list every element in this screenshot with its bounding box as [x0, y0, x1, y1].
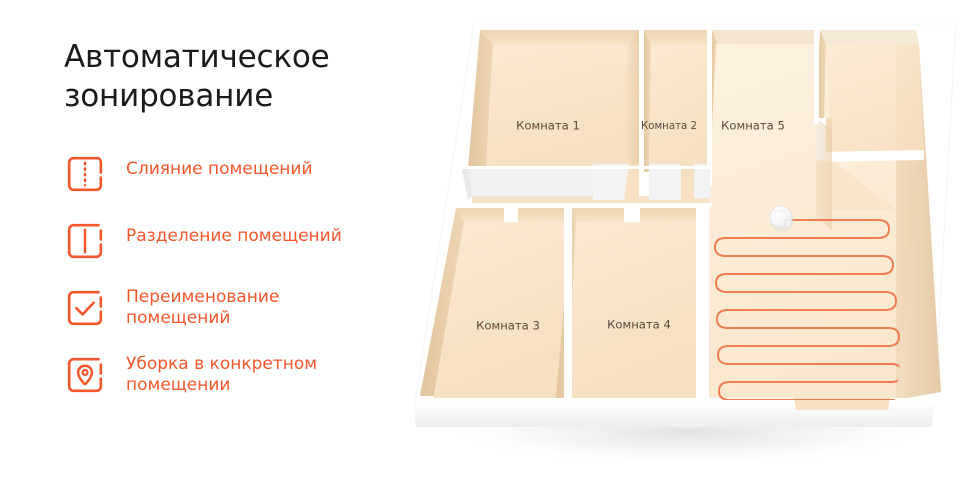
infographic-root: Автоматическое зонирование Слияние помещ…: [0, 0, 980, 490]
feature-label: Переименование помещений: [126, 286, 279, 329]
feature-item-clean-specific-room[interactable]: Уборка в конкретном помещении: [64, 353, 444, 399]
feature-item-merge-rooms[interactable]: Слияние помещений: [64, 152, 444, 198]
feature-label: Разделение помещений: [126, 219, 342, 247]
feature-label: Слияние помещений: [126, 152, 313, 180]
room-label-1: Комната 1: [516, 119, 580, 133]
split-rooms-icon: [64, 220, 106, 262]
rename-rooms-icon: [64, 287, 106, 329]
room-label-5: Комната 5: [721, 119, 785, 133]
corridor: [462, 164, 712, 207]
feature-item-split-rooms[interactable]: Разделение помещений: [64, 219, 444, 265]
room-label-4: Комната 4: [607, 318, 671, 332]
room-label-3: Комната 3: [476, 319, 540, 333]
room-2-shape: [642, 30, 707, 182]
room-1-shape: [468, 30, 639, 170]
feature-list: Слияние помещений Разделение помещений: [64, 152, 444, 399]
floor-plan: Комната 1 Комната 2 Комната 3 Комната 4 …: [396, 0, 980, 490]
page-title: Автоматическое зонирование: [64, 38, 424, 116]
merge-rooms-icon: [64, 153, 106, 195]
room-4-shape: [556, 208, 696, 398]
room-5-shape: [709, 30, 941, 400]
feature-label: Уборка в конкретном помещении: [126, 353, 317, 396]
clean-specific-room-icon: [64, 354, 106, 396]
left-panel: Автоматическое зонирование: [64, 38, 424, 116]
feature-item-rename-rooms[interactable]: Переименование помещений: [64, 286, 444, 332]
room-label-2: Комната 2: [641, 121, 697, 132]
